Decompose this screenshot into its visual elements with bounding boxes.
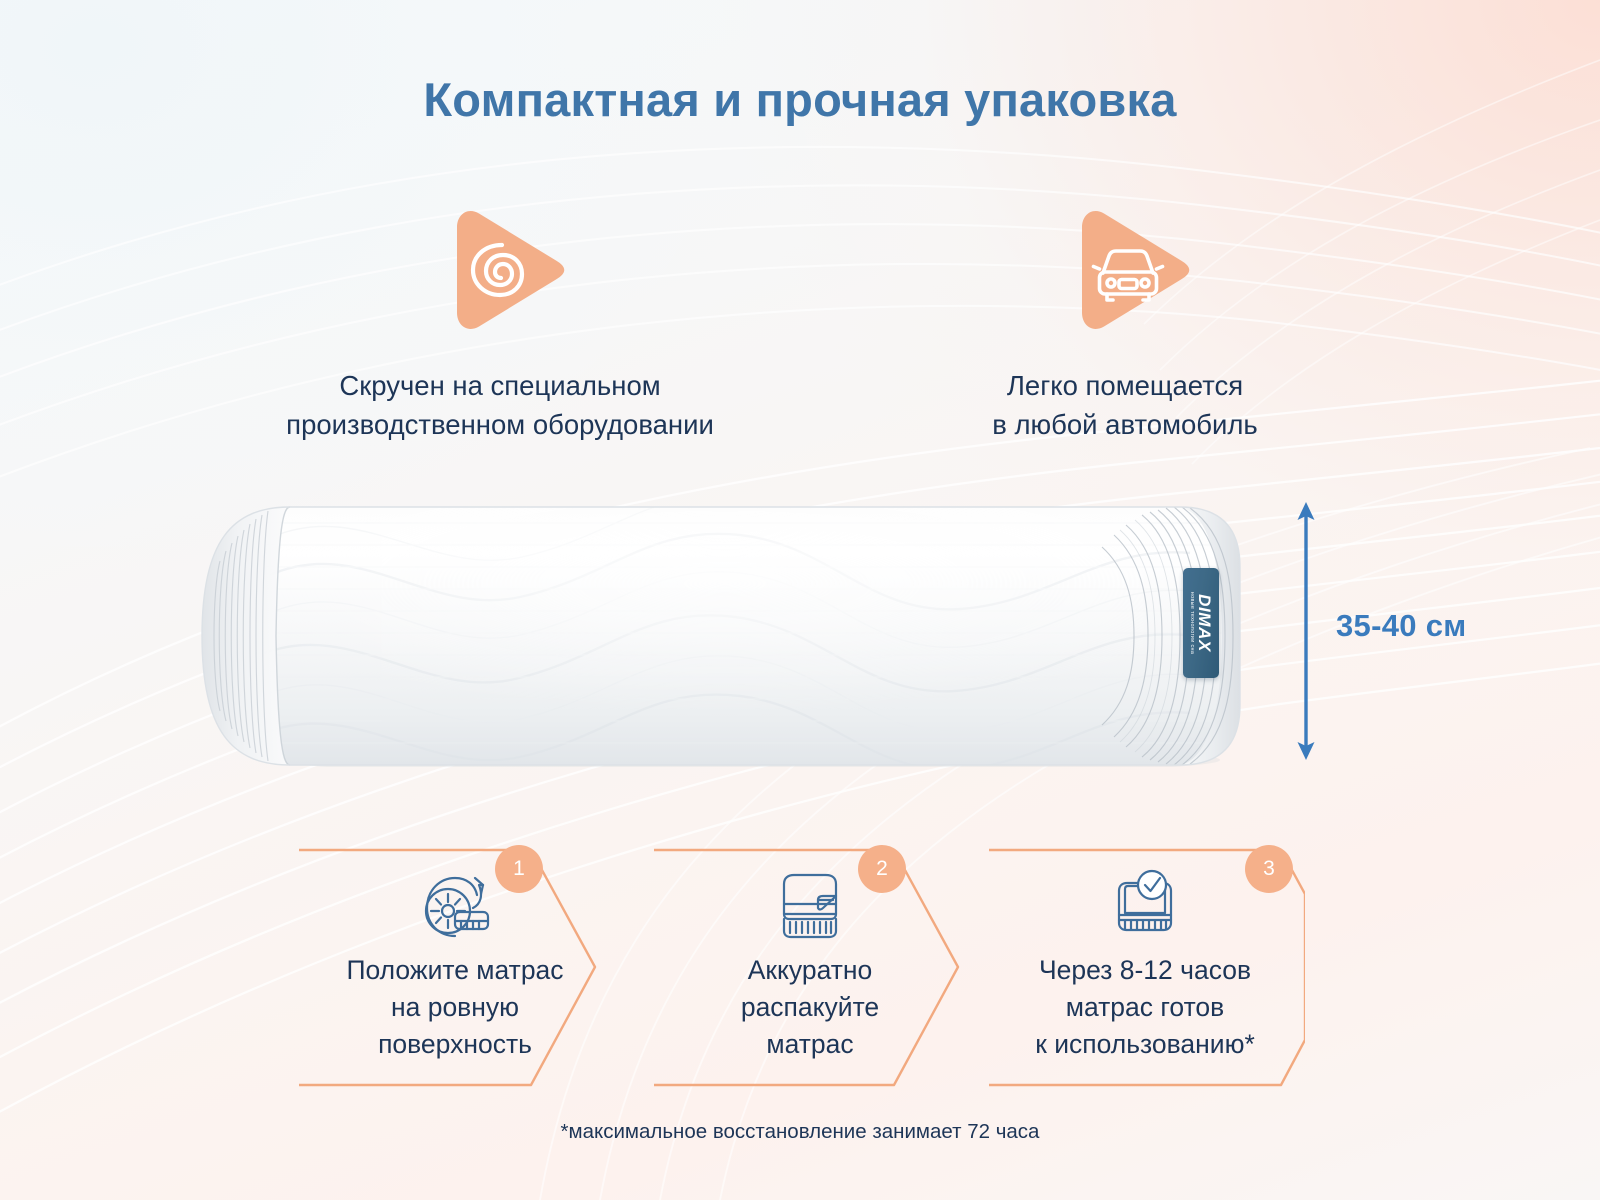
unrolling-mattress-icon xyxy=(295,868,615,946)
step-text-line: Аккуратно xyxy=(630,952,990,989)
feature-caption-line1: Скручен на специальном xyxy=(190,366,810,405)
feature-block-rolled: Скручен на специальном производственном … xyxy=(190,196,810,444)
step-text-line: на ровную xyxy=(275,989,635,1026)
brand-tag-inner: DIMAX новые технологии сна xyxy=(1189,592,1213,654)
brand-tag: DIMAX новые технологии сна xyxy=(1183,568,1219,678)
step-text-1: Положите матрас на ровную поверхность xyxy=(275,952,635,1063)
step-text-line: Положите матрас xyxy=(275,952,635,989)
brand-tag-subtitle: новые технологии сна xyxy=(1189,592,1194,654)
feature-caption-line2: в любой автомобиль xyxy=(845,405,1405,444)
feature-icon-wrap-car xyxy=(845,196,1405,344)
feature-block-car: Легко помещается в любой автомобиль xyxy=(845,196,1405,444)
unwrap-mattress-icon xyxy=(650,870,970,948)
rolled-mattress-image: DIMAX новые технологии сна xyxy=(180,505,1270,767)
dimension-label: 35-40 см xyxy=(1336,608,1466,644)
footnote-text: *максимальное восстановление занимает 72… xyxy=(0,1120,1600,1144)
feature-caption-car: Легко помещается в любой автомобиль xyxy=(845,366,1405,444)
car-front-icon xyxy=(1055,200,1195,340)
step-text-line: матрас готов xyxy=(965,989,1325,1026)
step-text-line: матрас xyxy=(630,1026,990,1063)
feature-icon-wrap-rolled xyxy=(190,196,810,344)
step-text-2: Аккуратно распакуйте матрас xyxy=(630,952,990,1063)
feature-caption-line1: Легко помещается xyxy=(845,366,1405,405)
step-text-line: Через 8-12 часов xyxy=(965,952,1325,989)
step-text-line: поверхность xyxy=(275,1026,635,1063)
step-text-line: к использованию* xyxy=(965,1026,1325,1063)
feature-caption-rolled: Скручен на специальном производственном … xyxy=(190,366,810,444)
spiral-roll-icon xyxy=(430,200,570,340)
feature-caption-line2: производственном оборудовании xyxy=(190,405,810,444)
step-card-2: 2 Аккуратно распакуйте м xyxy=(650,840,970,1095)
steps-row: 1 xyxy=(295,840,1305,1095)
mattress-check-icon xyxy=(985,865,1305,943)
infographic-page: Компактная и прочная упаковка Скручен на… xyxy=(0,0,1600,1200)
step-text-3: Через 8-12 часов матрас готов к использо… xyxy=(965,952,1325,1063)
step-card-1: 1 xyxy=(295,840,615,1095)
brand-tag-name: DIMAX xyxy=(1196,592,1213,654)
step-text-line: распакуйте xyxy=(630,989,990,1026)
dimension-arrow xyxy=(1286,500,1326,762)
page-title: Компактная и прочная упаковка xyxy=(0,72,1600,127)
step-card-3: 3 Через 8-12 часов матрас готов xyxy=(985,840,1305,1095)
